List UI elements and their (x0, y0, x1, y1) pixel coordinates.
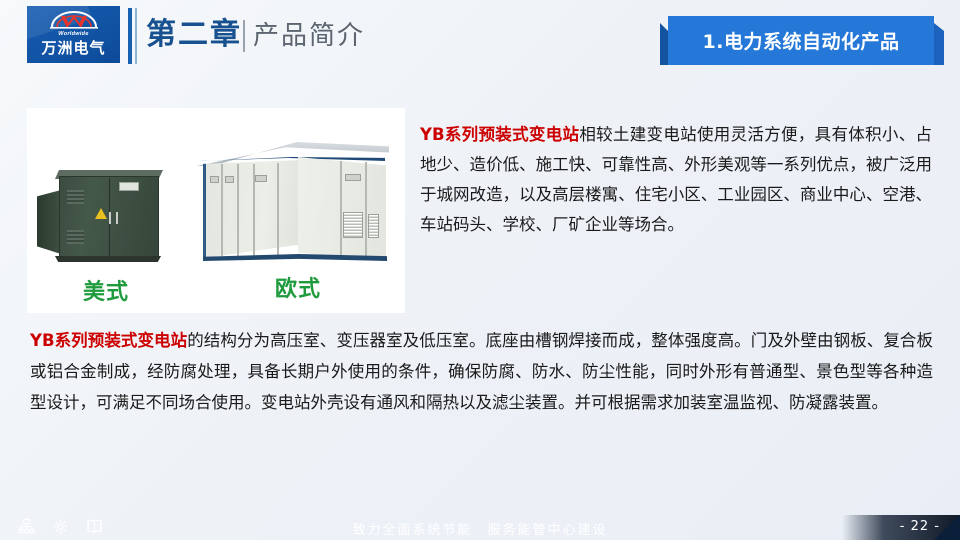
worldwide-emblem-icon (48, 10, 100, 32)
product-image-panel: 美式 欧式 (27, 108, 405, 313)
right-description-paragraph: YB系列预装式变电站相较土建变电站使用灵活方便，具有体积小、占地少、造价低、施工… (420, 120, 932, 240)
logo-subtext: Worldwide (27, 31, 120, 37)
eu-plate-1 (210, 176, 219, 183)
header-divider-thick (128, 8, 132, 64)
us-vent-bottom (67, 230, 84, 244)
badge-label: 1.电力系统自动化产品 (703, 27, 900, 54)
chapter-title: 第二章 (146, 13, 242, 57)
page-number: - 22 - (900, 519, 940, 534)
right-paragraph-highlight: YB系列预装式变电站 (420, 125, 579, 144)
eu-seam-1 (221, 164, 223, 256)
slide-header: Worldwide 万洲电气 第二章 产品简介 1.电力系统自动化产品 (0, 0, 960, 78)
european-style-substation-image (195, 130, 391, 272)
eu-plate-4 (345, 174, 361, 181)
us-side-panel (37, 190, 61, 254)
slide: Worldwide 万洲电气 第二章 产品简介 1.电力系统自动化产品 (0, 0, 960, 540)
caption-european-style: 欧式 (275, 271, 321, 303)
caption-american-style: 美式 (83, 274, 129, 306)
eu-seam-4 (277, 163, 279, 258)
eu-seam-5 (340, 161, 342, 259)
section-badge: 1.电力系统自动化产品 (660, 16, 942, 65)
us-handle-right (116, 212, 118, 224)
eu-seam-6 (365, 162, 367, 260)
us-nameplate (119, 182, 139, 191)
american-style-substation-image (37, 164, 169, 268)
eu-louver-1 (343, 212, 363, 238)
bottom-description-paragraph: YB系列预装式变电站的结构分为高压室、变压器室及低压室。底座由槽钢焊接而成，整体… (30, 325, 933, 418)
eu-plate-3 (255, 175, 267, 182)
slide-footer: 致力全面系统节能 服务能管中心建设 - 22 - (0, 515, 960, 540)
us-handle-left (109, 212, 111, 224)
us-base (55, 256, 161, 262)
badge-fold-right (934, 23, 944, 65)
badge-body: 1.电力系统自动化产品 (668, 16, 934, 65)
company-logo: Worldwide 万洲电气 (27, 6, 120, 63)
us-vent-top (67, 190, 84, 204)
header-divider-thin (135, 8, 137, 64)
warning-triangle-icon (95, 208, 107, 219)
eu-louver-2 (368, 214, 379, 238)
eu-plate-2 (225, 176, 234, 183)
chapter-subtitle: 产品简介 (253, 15, 365, 57)
logo-company-name: 万洲电气 (27, 39, 120, 57)
bottom-paragraph-highlight: YB系列预装式变电站 (30, 331, 187, 350)
chapter-separator (243, 20, 245, 52)
eu-right-face (298, 157, 386, 261)
footer-slogan: 致力全面系统节能 服务能管中心建设 (0, 519, 960, 538)
eu-seam-2 (237, 164, 239, 257)
